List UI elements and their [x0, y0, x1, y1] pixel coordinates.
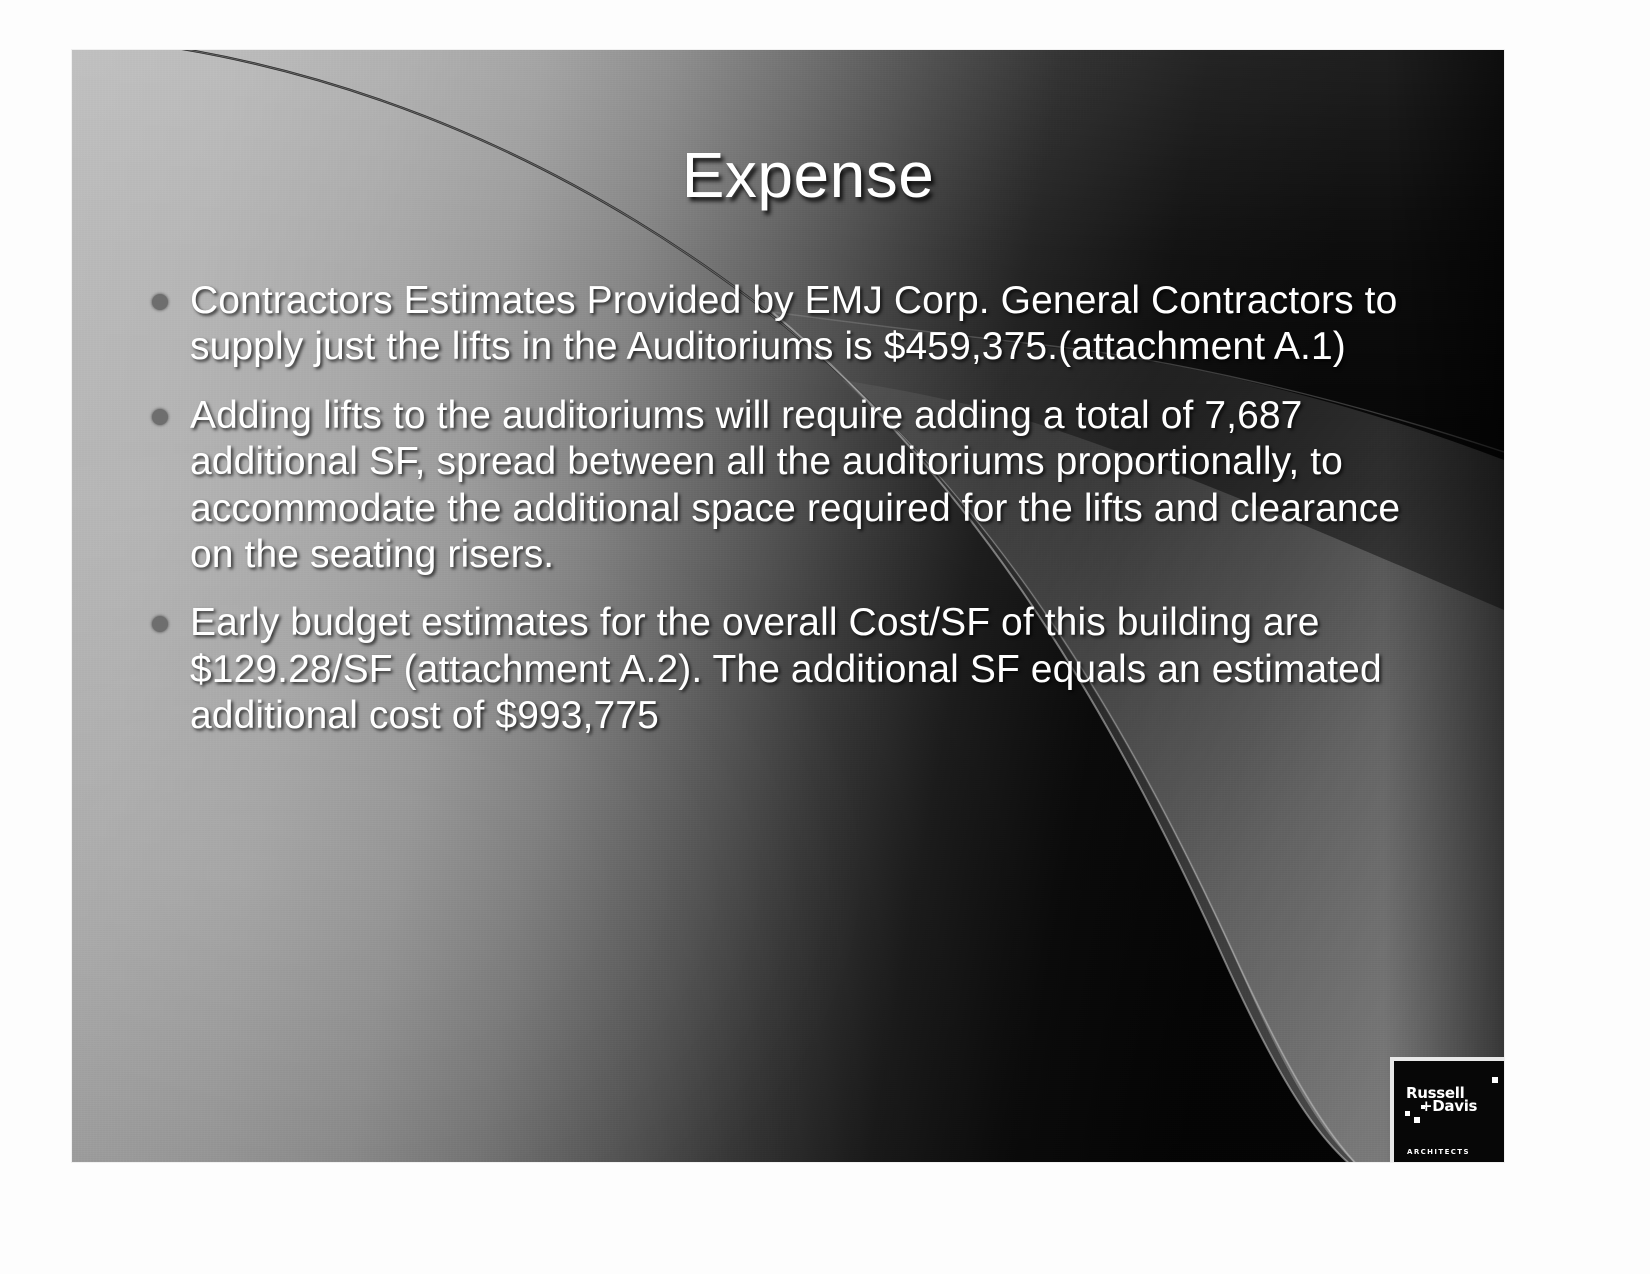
logo-name: Russell +Davis: [1406, 1087, 1477, 1113]
bullet-item-3: Early budget estimates for the overall C…: [152, 600, 1442, 739]
logo-square-icon: [1492, 1077, 1498, 1083]
slide-bullet-list: Contractors Estimates Provided by EMJ Co…: [152, 278, 1442, 762]
logo-tagline: ARCHITECTS: [1407, 1148, 1470, 1156]
bullet-text-1: Contractors Estimates Provided by EMJ Co…: [190, 278, 1442, 371]
bullet-dot-icon: [152, 294, 168, 310]
bullet-item-2: Adding lifts to the auditoriums will req…: [152, 393, 1442, 579]
bullet-text-2: Adding lifts to the auditoriums will req…: [190, 393, 1442, 579]
russell-davis-architects-logo: Russell +Davis ARCHITECTS: [1390, 1057, 1504, 1162]
slide-title: Expense: [72, 138, 1504, 212]
bullet-dot-icon: [152, 616, 168, 632]
bullet-text-3: Early budget estimates for the overall C…: [190, 600, 1442, 739]
bullet-dot-icon: [152, 409, 168, 425]
bullet-item-1: Contractors Estimates Provided by EMJ Co…: [152, 278, 1442, 371]
logo-square-icon: [1414, 1117, 1420, 1123]
presentation-slide: Expense Contractors Estimates Provided b…: [72, 50, 1504, 1162]
logo-inner: Russell +Davis ARCHITECTS: [1394, 1061, 1504, 1162]
scanned-page: Expense Contractors Estimates Provided b…: [0, 0, 1650, 1274]
